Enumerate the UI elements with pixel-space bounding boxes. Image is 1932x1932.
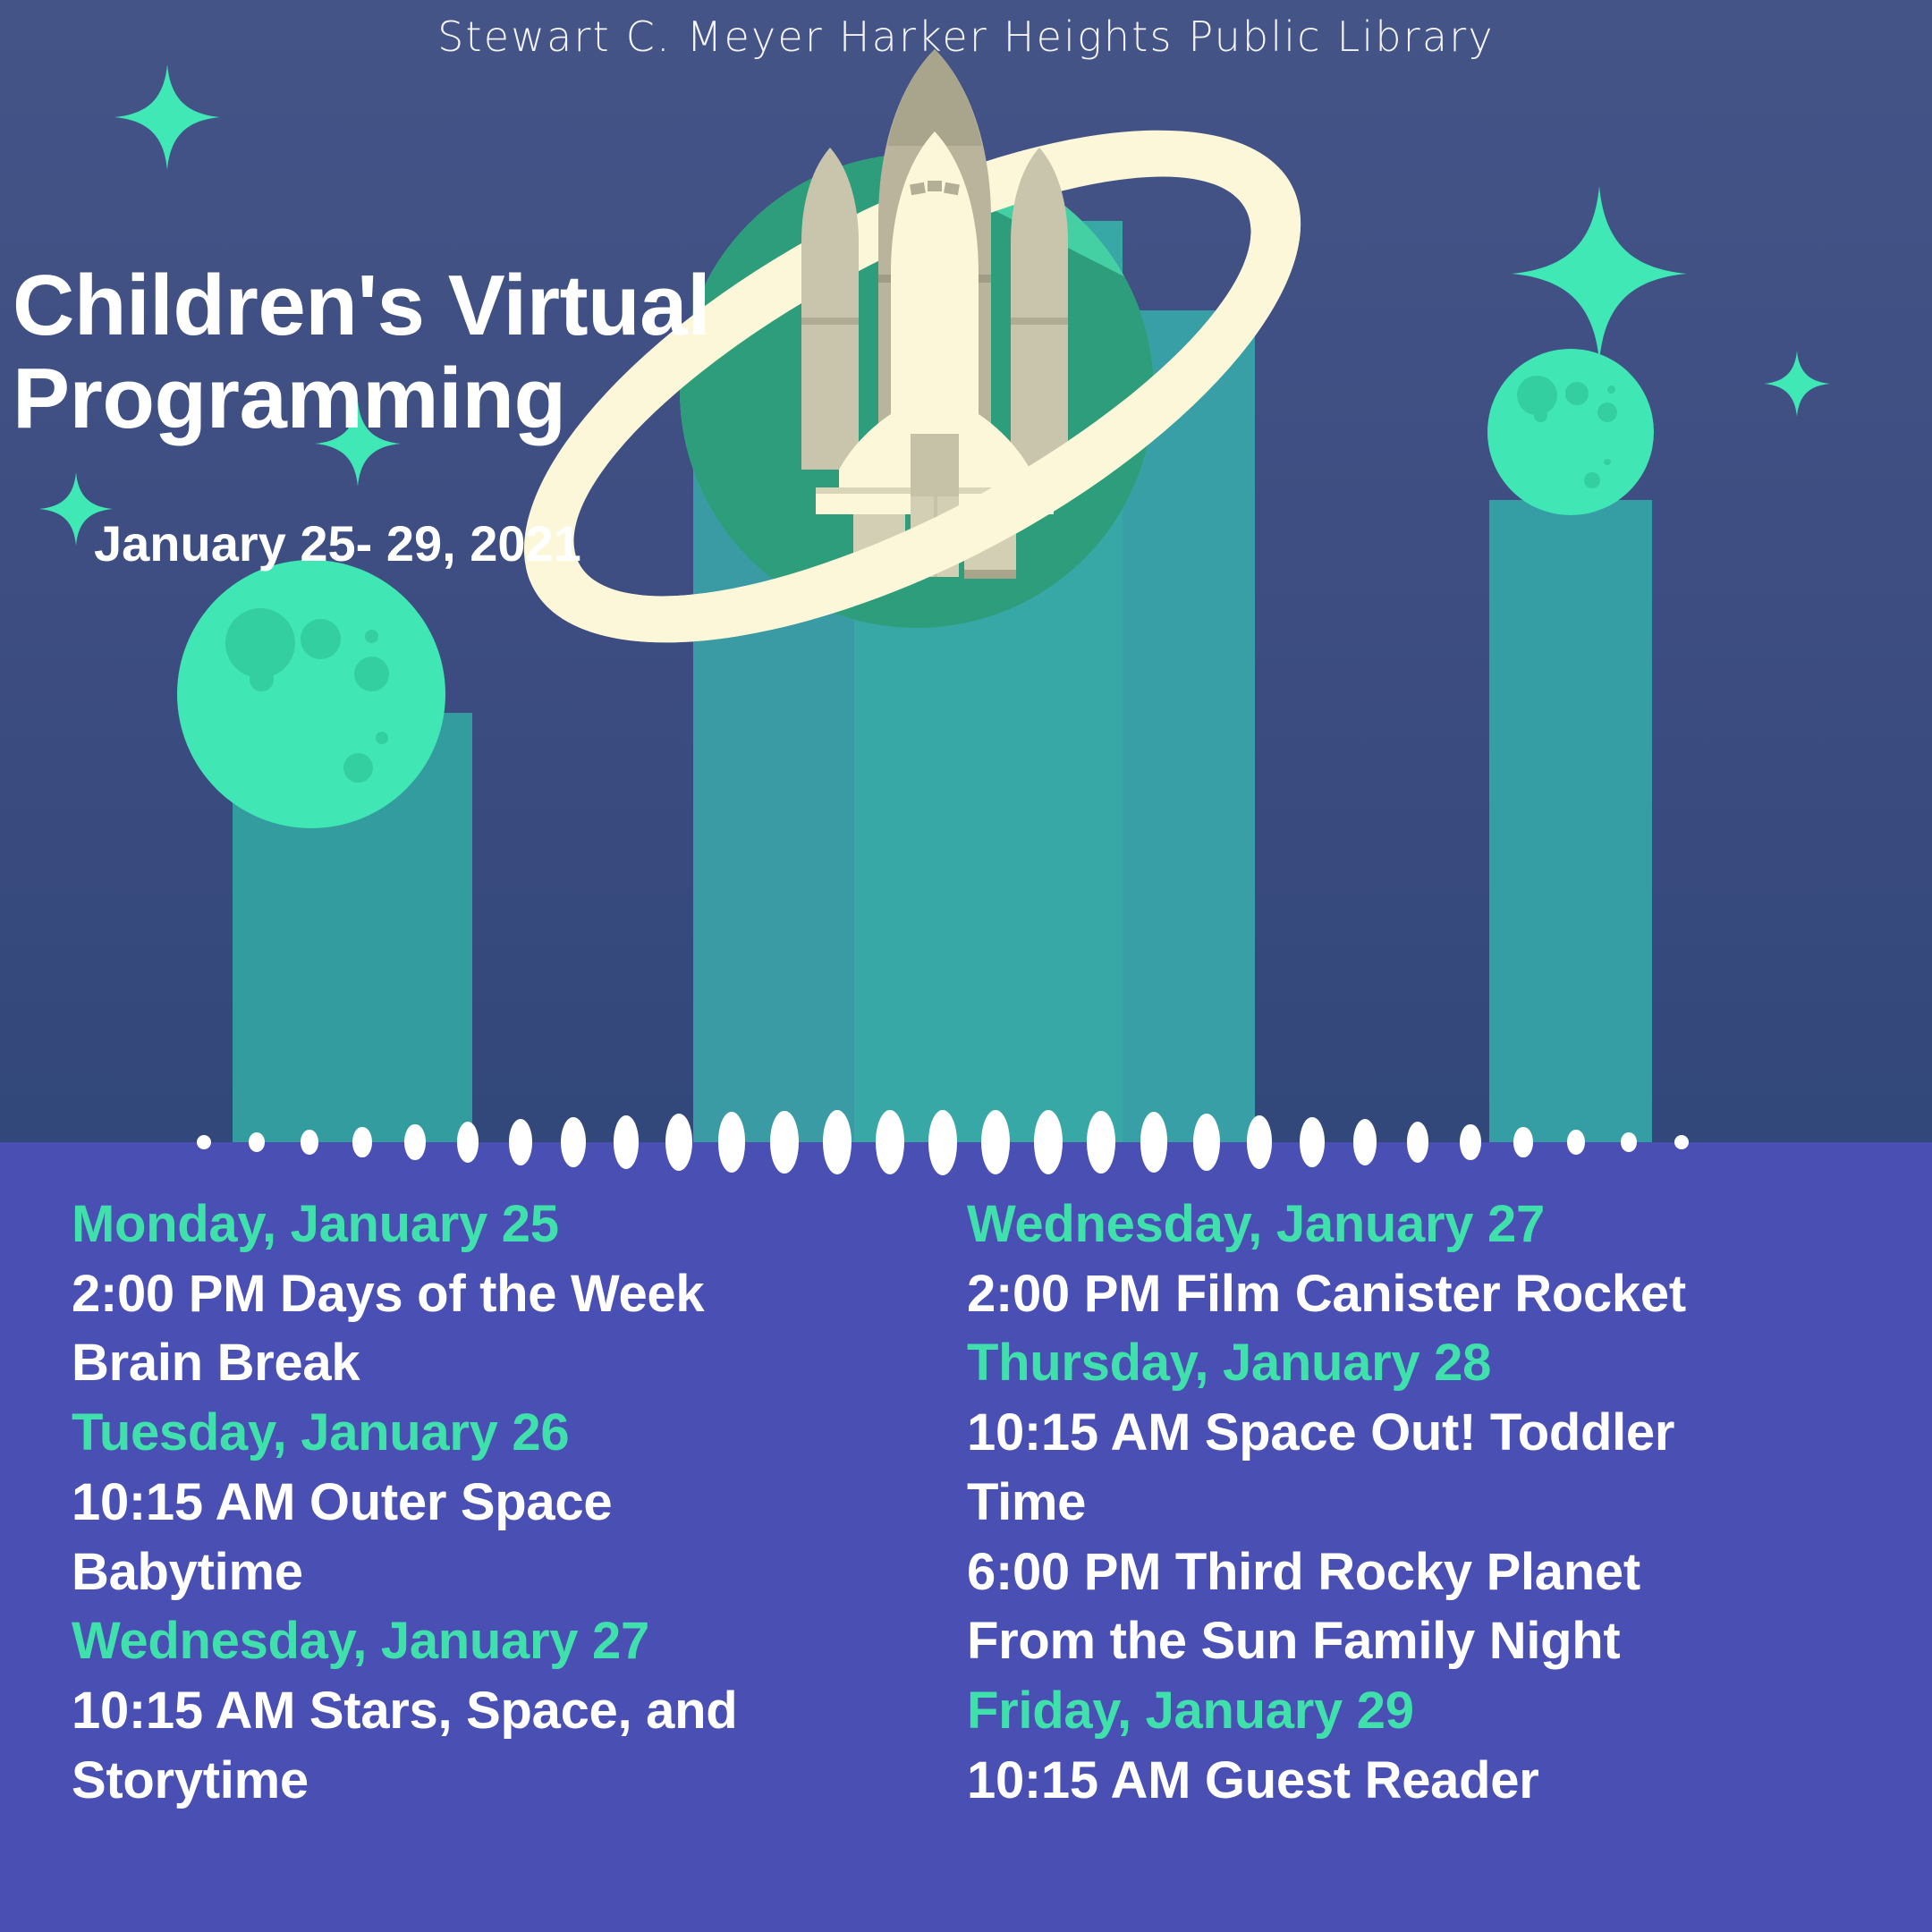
moon-crater — [354, 657, 389, 691]
schedule-day-heading: Tuesday, January 26 — [72, 1398, 966, 1468]
schedule-event-line: 10:15 AM Outer Space — [72, 1468, 966, 1538]
schedule-event-line: 6:00 PM Third Rocky Planet — [967, 1538, 1932, 1607]
schedule-column-right: Wednesday, January 272:00 PM Film Canist… — [966, 1190, 1932, 1815]
moon-crater — [1604, 459, 1610, 465]
poster-canvas: Stewart C. Meyer Harker Heights Public L… — [0, 0, 1932, 1932]
space-shuttle-icon — [787, 49, 1082, 586]
schedule-day-heading: Monday, January 25 — [72, 1190, 966, 1259]
moon-crater — [1584, 472, 1601, 489]
sparkle-star-far-right-icon — [1764, 351, 1830, 417]
date-range: January 25- 29, 2021 — [94, 514, 581, 572]
schedule-event-line: 10:15 AM Stars, Space, and — [72, 1676, 966, 1746]
moon-small-right-icon — [1487, 349, 1654, 515]
schedule-day-heading: Wednesday, January 27 — [967, 1190, 1932, 1259]
schedule-event-line: 2:00 PM Days of the Week — [72, 1259, 966, 1329]
schedule-day-heading: Thursday, January 28 — [967, 1328, 1932, 1398]
moon-crater — [1565, 382, 1589, 405]
schedule-event-line: Babytime — [72, 1538, 966, 1607]
page-title: Children's Virtual Programming — [13, 259, 800, 445]
moon-crater — [343, 753, 373, 783]
moon-large-left-icon — [177, 560, 445, 828]
schedule-day-heading: Wednesday, January 27 — [72, 1606, 966, 1676]
schedule-event-line: 2:00 PM Film Canister Rocket — [967, 1259, 1932, 1329]
moon-crater — [1597, 402, 1617, 422]
library-name: Stewart C. Meyer Harker Heights Public L… — [0, 13, 1932, 61]
sparkle-star-large-right-icon — [1512, 186, 1687, 361]
schedule-event-line: From the Sun Family Night — [967, 1606, 1932, 1676]
moon-crater — [301, 619, 341, 659]
moon-crater — [365, 630, 378, 643]
schedule-day-heading: Friday, January 29 — [967, 1676, 1932, 1746]
moon-crater — [1607, 386, 1615, 394]
bar-5 — [1489, 500, 1652, 1142]
schedule-column-left: Monday, January 252:00 PM Days of the We… — [0, 1190, 966, 1815]
schedule-event-line: 10:15 AM Guest Reader — [967, 1746, 1932, 1816]
moon-crater — [1534, 409, 1547, 422]
moon-crater — [250, 667, 274, 691]
schedule-event-line: Brain Break — [72, 1328, 966, 1398]
schedule-event-line: Storytime — [72, 1746, 966, 1816]
moon-crater — [376, 732, 388, 744]
schedule-columns: Monday, January 252:00 PM Days of the We… — [0, 1190, 1932, 1815]
schedule-event-line: Time — [967, 1468, 1932, 1538]
sparkle-star-top-left-icon — [114, 64, 220, 170]
schedule-event-line: 10:15 AM Space Out! Toddler — [967, 1398, 1932, 1468]
